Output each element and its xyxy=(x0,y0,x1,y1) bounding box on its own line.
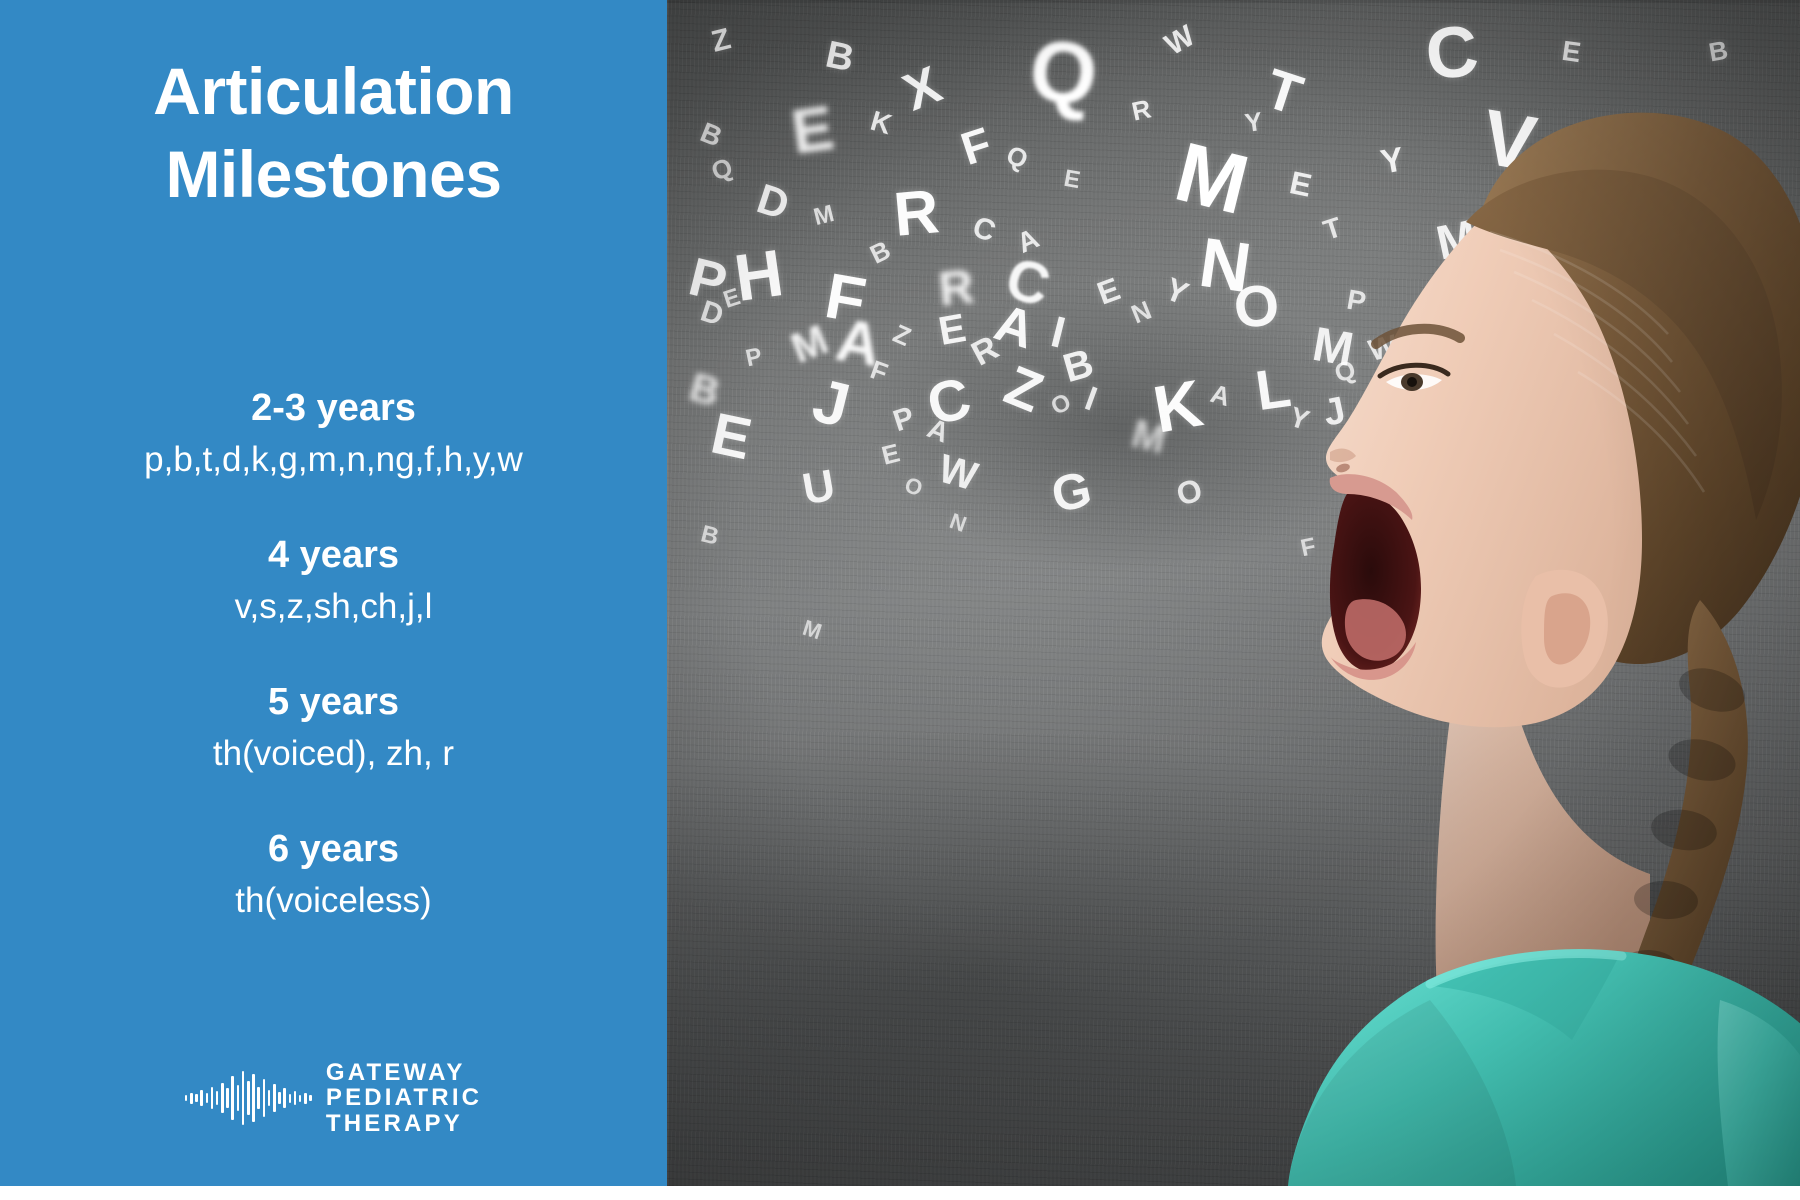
soundwave-bar xyxy=(294,1091,297,1105)
brand-logo: GATEWAY PEDIATRIC THERAPY xyxy=(0,1060,667,1136)
milestone-group-0: 2-3 years p,b,t,d,k,g,m,n,ng,f,h,y,w xyxy=(24,385,643,482)
milestone-age-1: 4 years xyxy=(24,532,643,580)
soundwave-bar xyxy=(237,1085,240,1111)
soundwave-bar xyxy=(283,1088,286,1108)
milestone-sounds-3: th(voiceless) xyxy=(24,878,643,924)
soundwave-bar xyxy=(195,1094,198,1102)
brand-line-1: GATEWAY xyxy=(326,1060,466,1085)
soundwave-bar xyxy=(268,1090,271,1106)
brand-line-3: THERAPY xyxy=(326,1111,463,1136)
soundwave-bar xyxy=(252,1074,255,1122)
milestone-group-2: 5 years th(voiced), zh, r xyxy=(24,679,643,776)
soundwave-bar xyxy=(211,1087,214,1109)
soundwave-bar xyxy=(231,1076,234,1120)
soundwave-bar xyxy=(257,1087,260,1109)
soundwave-bar xyxy=(273,1084,276,1112)
milestone-sounds-1: v,s,z,sh,ch,j,l xyxy=(24,584,643,630)
soundwave-bar xyxy=(242,1071,245,1125)
milestone-group-3: 6 years th(voiceless) xyxy=(24,826,643,923)
title-line-2: Milestones xyxy=(30,133,637,216)
photo-region: ZBXQWTCEBEKFQRMYVYBQDMRCAETEYHPFBRCEYONM… xyxy=(667,0,1800,1186)
slide-canvas: Articulation Milestones 2-3 years p,b,t,… xyxy=(0,0,1800,1200)
soundwave-bar xyxy=(289,1094,292,1103)
soundwave-icon xyxy=(185,1071,312,1125)
info-panel: Articulation Milestones 2-3 years p,b,t,… xyxy=(0,0,667,1186)
milestone-age-0: 2-3 years xyxy=(24,385,643,433)
soundwave-bar xyxy=(221,1083,224,1113)
milestone-group-1: 4 years v,s,z,sh,ch,j,l xyxy=(24,532,643,629)
soundwave-bar xyxy=(309,1095,312,1101)
title-line-1: Articulation xyxy=(30,50,637,133)
soundwave-bar xyxy=(200,1090,203,1106)
brand-logo-text: GATEWAY PEDIATRIC THERAPY xyxy=(326,1060,482,1136)
soundwave-bar xyxy=(185,1095,188,1101)
soundwave-bar xyxy=(278,1092,281,1104)
brand-line-2: PEDIATRIC xyxy=(326,1085,482,1110)
milestone-age-3: 6 years xyxy=(24,826,643,874)
soundwave-bar xyxy=(216,1091,219,1105)
milestone-sounds-2: th(voiced), zh, r xyxy=(24,731,643,777)
soundwave-bar xyxy=(190,1093,193,1104)
page-title: Articulation Milestones xyxy=(0,50,667,216)
soundwave-bar xyxy=(263,1079,266,1117)
milestone-age-2: 5 years xyxy=(24,679,643,727)
soundwave-bar xyxy=(206,1093,209,1103)
milestones-list: 2-3 years p,b,t,d,k,g,m,n,ng,f,h,y,w 4 y… xyxy=(0,385,667,923)
soundwave-bar xyxy=(226,1088,229,1108)
photo-vignette xyxy=(667,0,1800,1186)
soundwave-bar xyxy=(299,1095,302,1102)
soundwave-bar xyxy=(247,1081,250,1115)
milestone-sounds-0: p,b,t,d,k,g,m,n,ng,f,h,y,w xyxy=(24,437,643,483)
soundwave-bar xyxy=(304,1093,307,1104)
